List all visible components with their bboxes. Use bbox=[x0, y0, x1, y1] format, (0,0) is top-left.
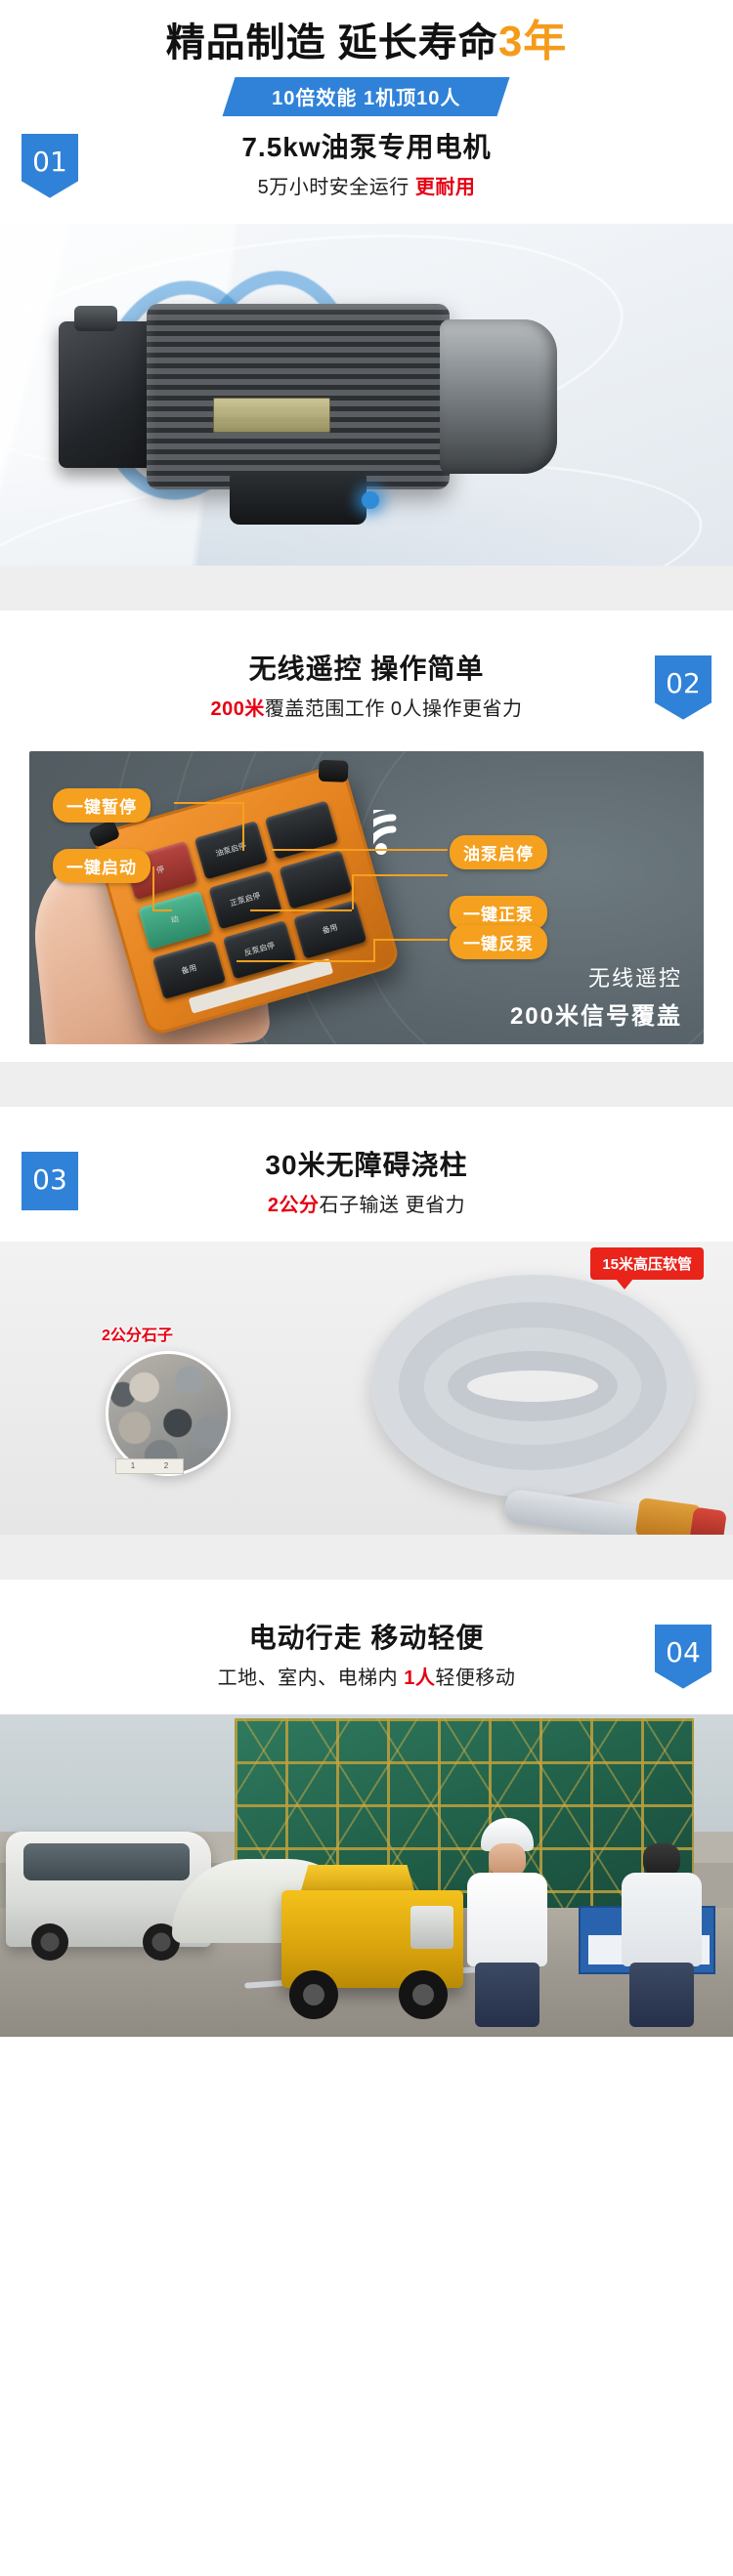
leader-line bbox=[352, 874, 354, 909]
section-02-subtitle: 200米覆盖范围工作 0人操作更省力 bbox=[88, 693, 645, 721]
section-02-subtitle-red: 200米 bbox=[210, 698, 264, 720]
section-01-subtitle: 5万小时安全运行 更耐用 bbox=[88, 171, 645, 199]
leader-line bbox=[152, 866, 154, 911]
motor-body-part bbox=[147, 304, 450, 489]
section-02-head-text: 无线遥控 操作简单 200米覆盖范围工作 0人操作更省力 bbox=[0, 652, 733, 721]
led-glow-icon bbox=[362, 491, 379, 509]
remote-photo-caption: 无线遥控 200米信号覆盖 bbox=[510, 961, 682, 1031]
product-detail-page: 精品制造 延长寿命3年 10倍效能 1机顶10人 01 7.5kw油泵专用电机 … bbox=[0, 0, 733, 2576]
chevron-down-icon bbox=[0, 1062, 733, 1107]
machine-wheel bbox=[399, 1970, 448, 2019]
mortar-pump-machine bbox=[281, 1890, 463, 2013]
page-title-accent: 3年 bbox=[498, 18, 567, 65]
machine-wheel bbox=[289, 1970, 338, 2019]
page-title: 精品制造 延长寿命3年 bbox=[0, 18, 733, 67]
section-04-subtitle: 工地、室内、电梯内 1人轻便移动 bbox=[88, 1662, 645, 1690]
section-02-title: 无线遥控 操作简单 bbox=[88, 652, 645, 687]
remote-key[interactable]: 油泵启停 bbox=[194, 821, 269, 879]
callout-pump-toggle: 油泵启停 bbox=[450, 835, 547, 869]
van-window bbox=[23, 1843, 190, 1880]
worker-head bbox=[489, 1843, 526, 1877]
spacer bbox=[0, 1580, 733, 1607]
gray-divider-band-3 bbox=[0, 1535, 733, 1580]
remote-key[interactable] bbox=[279, 850, 353, 908]
ruler-mark-1: 1 bbox=[131, 1461, 135, 1470]
section-02-header: 02 无线遥控 操作简单 200米覆盖范围工作 0人操作更省力 bbox=[0, 652, 733, 745]
chevron-down-icon bbox=[0, 566, 733, 611]
worker-head bbox=[643, 1843, 680, 1877]
leader-line bbox=[373, 939, 448, 941]
caption-line-1: 无线遥控 bbox=[510, 961, 682, 992]
section-01-subtitle-red: 更耐用 bbox=[415, 177, 476, 198]
section-04-header: 04 电动行走 移动轻便 工地、室内、电梯内 1人轻便移动 bbox=[0, 1621, 733, 1714]
gravel-ruler: 1 2 bbox=[115, 1458, 184, 1474]
section-01-subtitle-plain: 5万小时安全运行 bbox=[258, 177, 415, 198]
motor-photo bbox=[0, 224, 733, 566]
section-03-subtitle: 2公分石子输送 更省力 bbox=[88, 1189, 645, 1217]
sub-banner-wrap: 10倍效能 1机顶10人 bbox=[0, 77, 733, 116]
section-03-head-text: 30米无障碍浇柱 2公分石子输送 更省力 bbox=[0, 1148, 733, 1217]
motor-base bbox=[230, 474, 366, 525]
jobsite-photo bbox=[0, 1714, 733, 2037]
section-04-subtitle-pre: 工地、室内、电梯内 bbox=[218, 1668, 405, 1689]
worker-second bbox=[614, 1818, 708, 2027]
worker-pants bbox=[475, 1963, 539, 2027]
section-01-title: 7.5kw油泵专用电机 bbox=[88, 130, 645, 165]
electric-motor-illustration bbox=[39, 282, 645, 527]
remote-control-photo: 停 油泵启停 动 正泵启停 备用 反泵启停 备用 bbox=[29, 751, 704, 1044]
page-title-text: 精品制造 延长寿命 bbox=[166, 21, 498, 64]
gray-divider-band bbox=[0, 566, 733, 611]
callout-pause: 一键暂停 bbox=[53, 788, 151, 823]
machine-control-panel bbox=[410, 1906, 453, 1949]
leader-line bbox=[237, 960, 373, 962]
van-tire bbox=[31, 1923, 68, 1961]
callout-start: 一键启动 bbox=[53, 849, 151, 883]
hose-coupler bbox=[635, 1497, 703, 1534]
ruler-mark-2: 2 bbox=[164, 1461, 168, 1470]
spacer bbox=[0, 611, 733, 638]
gray-divider-band-2 bbox=[0, 1062, 733, 1107]
section-badge-03: 03 bbox=[22, 1152, 78, 1210]
gravel-photo-circle bbox=[106, 1351, 231, 1476]
callout-reverse-pump: 一键反泵 bbox=[450, 925, 547, 959]
section-03-subtitle-plain: 石子输送 更省力 bbox=[320, 1195, 466, 1216]
worker-shirt bbox=[622, 1873, 702, 1966]
hose-photo: 15米高压软管 2公分石子 1 2 bbox=[0, 1242, 733, 1535]
section-02-subtitle-plain: 覆盖范围工作 0人操作更省力 bbox=[265, 698, 523, 720]
section-03-header: 03 30米无障碍浇柱 2公分石子输送 更省力 bbox=[0, 1148, 733, 1242]
leader-line bbox=[242, 802, 244, 851]
worker-with-helmet bbox=[459, 1818, 553, 2027]
leader-line bbox=[272, 849, 448, 851]
section-04-subtitle-red: 1人 bbox=[404, 1668, 435, 1689]
leader-line bbox=[250, 909, 352, 911]
leader-line bbox=[352, 874, 448, 876]
spacer bbox=[0, 1107, 733, 1134]
section-01-head-text: 7.5kw油泵专用电机 5万小时安全运行 更耐用 bbox=[0, 130, 733, 199]
coil-ring bbox=[448, 1351, 618, 1421]
section-04-subtitle-post: 轻便移动 bbox=[435, 1668, 515, 1689]
leader-line bbox=[174, 802, 244, 804]
leader-line bbox=[373, 939, 375, 962]
antenna-right bbox=[319, 759, 349, 781]
section-03-subtitle-red: 2公分 bbox=[268, 1195, 320, 1216]
caption-line-2: 200米信号覆盖 bbox=[510, 996, 682, 1031]
top-title-block: 精品制造 延长寿命3年 10倍效能 1机顶10人 bbox=[0, 0, 733, 116]
section-04-title: 电动行走 移动轻便 bbox=[88, 1621, 645, 1656]
sub-banner-label: 10倍效能 1机顶10人 bbox=[273, 82, 461, 110]
spacer bbox=[0, 1044, 733, 1062]
leader-line bbox=[152, 909, 172, 911]
section-03-title: 30米无障碍浇柱 bbox=[88, 1148, 645, 1183]
remote-key[interactable]: 动 bbox=[138, 890, 212, 949]
section-04-head-text: 电动行走 移动轻便 工地、室内、电梯内 1人轻便移动 bbox=[0, 1621, 733, 1690]
sub-banner: 10倍效能 1机顶10人 bbox=[223, 77, 510, 116]
remote-key[interactable]: 正泵启停 bbox=[208, 870, 282, 929]
worker-shirt bbox=[467, 1873, 547, 1966]
worker-pants bbox=[629, 1963, 694, 2027]
hose-coil-illustration bbox=[371, 1275, 694, 1498]
motor-nameplate bbox=[213, 398, 330, 433]
motor-end-cap bbox=[440, 319, 557, 474]
gravel-label: 2公分石子 bbox=[102, 1322, 173, 1345]
section-01-header: 01 7.5kw油泵专用电机 5万小时安全运行 更耐用 bbox=[0, 130, 733, 224]
chevron-down-icon bbox=[0, 1535, 733, 1580]
